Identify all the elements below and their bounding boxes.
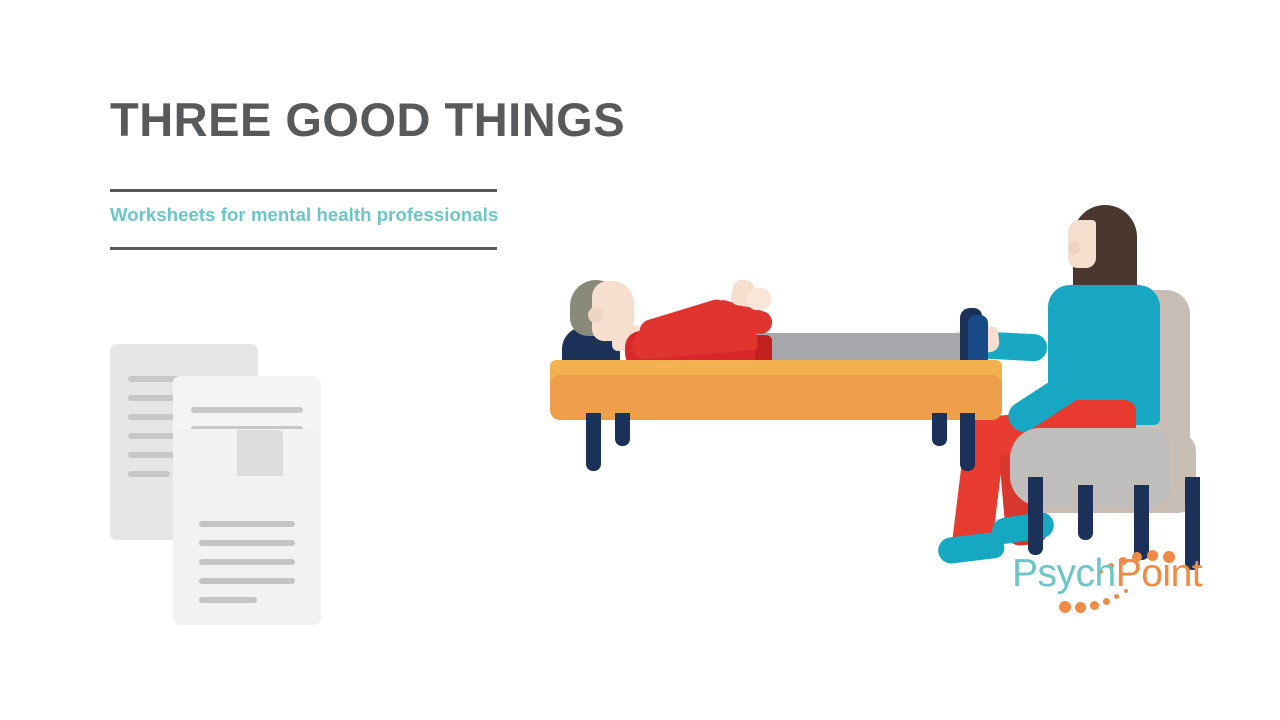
doc-text-line [199,578,295,584]
couch-leg [932,413,947,446]
doc-text-line [191,407,303,413]
logo-wordmark: PsychPoint [1012,554,1202,593]
patient-ear [588,307,603,323]
doc-text-line [199,597,257,603]
logo-text-point: Point [1116,552,1202,595]
patient-hand-front [746,287,772,311]
therapy-scene-illustration [540,185,1220,565]
documents-illustration [110,344,380,624]
logo-dot [1103,598,1110,605]
therapist-ear [1068,241,1080,255]
logo-dot [1090,601,1099,610]
doc-text-line [199,559,295,565]
page-fold-corner-icon [236,429,284,477]
armchair-leg [1078,485,1093,540]
doc-text-line [199,540,295,546]
doc-text-line [199,521,295,527]
logo-dot [1075,602,1086,613]
couch-leg [615,413,630,446]
couch-leg [586,413,601,471]
divider-bottom [110,247,497,250]
couch-leg [960,413,975,471]
page-title: THREE GOOD THINGS [110,96,710,143]
logo-text-psych: Psych [1012,552,1116,595]
slide-canvas: THREE GOOD THINGS Worksheets for mental … [0,0,1280,720]
logo-dot [1059,601,1071,613]
psychpoint-logo: PsychPoint [1012,540,1192,620]
doc-text-line [128,471,170,477]
